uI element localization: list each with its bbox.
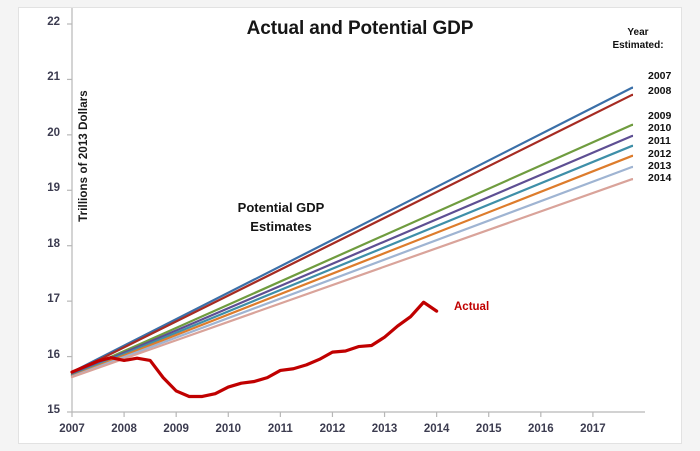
series-line-2009 [72,125,632,374]
y-tick-label-22: 22 [34,16,60,28]
y-axis-title: Trillions of 2013 Dollars [78,46,90,266]
y-tick-label-15: 15 [34,404,60,416]
x-tick-label-2012: 2012 [309,423,355,435]
x-tick-label-2010: 2010 [205,423,251,435]
legend-item-2014: 2014 [648,172,690,184]
legend-header: Year Estimated: [592,26,684,52]
legend-item-2007: 2007 [648,70,690,82]
x-tick-label-2011: 2011 [257,423,303,435]
x-tick-label-2008: 2008 [101,423,147,435]
x-tick-label-2009: 2009 [153,423,199,435]
y-tick-label-17: 17 [34,293,60,305]
x-tick-label-2013: 2013 [362,423,408,435]
x-tick-label-2007: 2007 [49,423,95,435]
y-tick-label-21: 21 [34,71,60,83]
chart-figure: Actual and Potential GDP Trillions of 20… [0,0,700,451]
legend-header-line2: Estimated: [592,39,684,52]
x-tick-label-2017: 2017 [570,423,616,435]
annotation-potential-gdp-line2: Estimates [196,217,366,236]
y-tick-label-19: 19 [34,182,60,194]
series-line-2011 [72,146,632,375]
annotation-actual: Actual [454,301,489,313]
series-line-2010 [72,136,632,375]
annotation-potential-gdp: Potential GDP Estimates [196,198,366,236]
y-tick-label-20: 20 [34,127,60,139]
legend-item-2009: 2009 [648,110,690,122]
y-tick-label-18: 18 [34,238,60,250]
x-tick-label-2015: 2015 [466,423,512,435]
legend-item-2012: 2012 [648,148,690,160]
legend-item-2008: 2008 [648,85,690,97]
legend-item-2013: 2013 [648,160,690,172]
x-tick-label-2016: 2016 [518,423,564,435]
legend-item-2010: 2010 [648,122,690,134]
series-line-2012 [72,156,632,376]
legend-header-line1: Year [592,26,684,39]
x-tick-label-2014: 2014 [414,423,460,435]
annotation-potential-gdp-line1: Potential GDP [196,198,366,217]
page-title: Actual and Potential GDP [150,18,570,40]
y-tick-label-16: 16 [34,349,60,361]
legend-item-2011: 2011 [648,135,690,147]
